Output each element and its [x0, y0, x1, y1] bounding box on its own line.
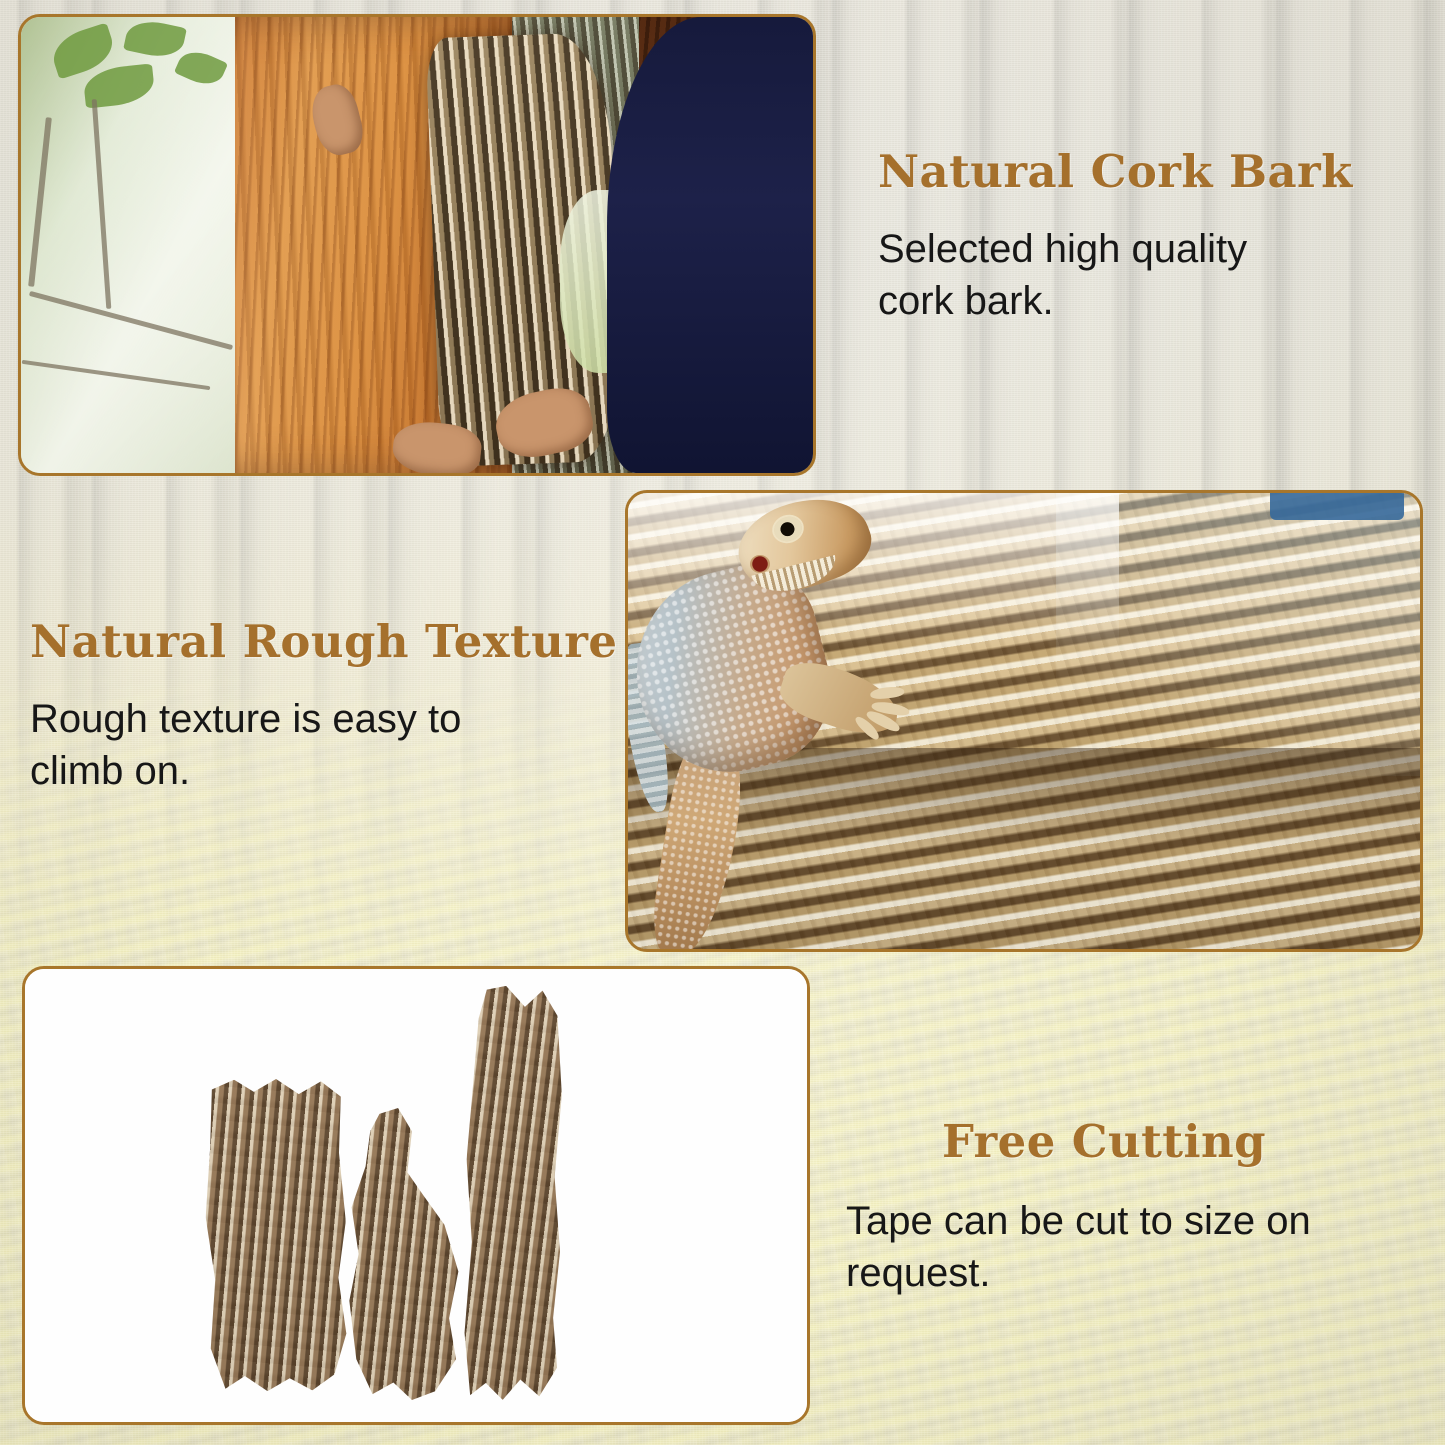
leaf-shape — [174, 45, 228, 91]
feature-text-free-cutting: Free Cutting Tape can be cut to size on … — [846, 1118, 1416, 1299]
body-natural-rough-texture: Rough texture is easy to climb on. — [30, 693, 550, 797]
body-free-cutting: Tape can be cut to size on request. — [846, 1195, 1406, 1299]
worker-silhouette — [607, 17, 813, 473]
photo-cork-harvest — [21, 17, 813, 473]
leaf-shape — [123, 16, 187, 61]
image-panel-bearded-dragon — [625, 490, 1423, 952]
cool-tone-overlay — [1056, 493, 1420, 776]
photo-bearded-dragon-on-cork — [628, 493, 1420, 949]
headline-natural-rough-texture: Natural Rough Texture — [30, 618, 630, 665]
cork-strip-left — [203, 1078, 348, 1392]
branch-shape — [28, 117, 52, 287]
feature-text-natural-rough-texture: Natural Rough Texture Rough texture is e… — [30, 618, 630, 797]
blue-background-strip — [1270, 493, 1405, 520]
branch-shape — [92, 99, 112, 309]
cork-strip-right — [462, 985, 565, 1401]
headline-natural-cork-bark: Natural Cork Bark — [878, 148, 1418, 195]
headline-free-cutting: Free Cutting — [942, 1118, 1416, 1165]
branch-shape — [22, 359, 211, 389]
image-panel-cork-harvest — [18, 14, 816, 476]
infographic-canvas: Natural Cork Bark Selected high quality … — [0, 0, 1445, 1445]
body-natural-cork-bark: Selected high quality cork bark. — [878, 223, 1318, 327]
lizard-ear — [750, 555, 770, 573]
feature-text-natural-cork-bark: Natural Cork Bark Selected high quality … — [878, 148, 1418, 327]
branch-shape — [29, 291, 233, 350]
